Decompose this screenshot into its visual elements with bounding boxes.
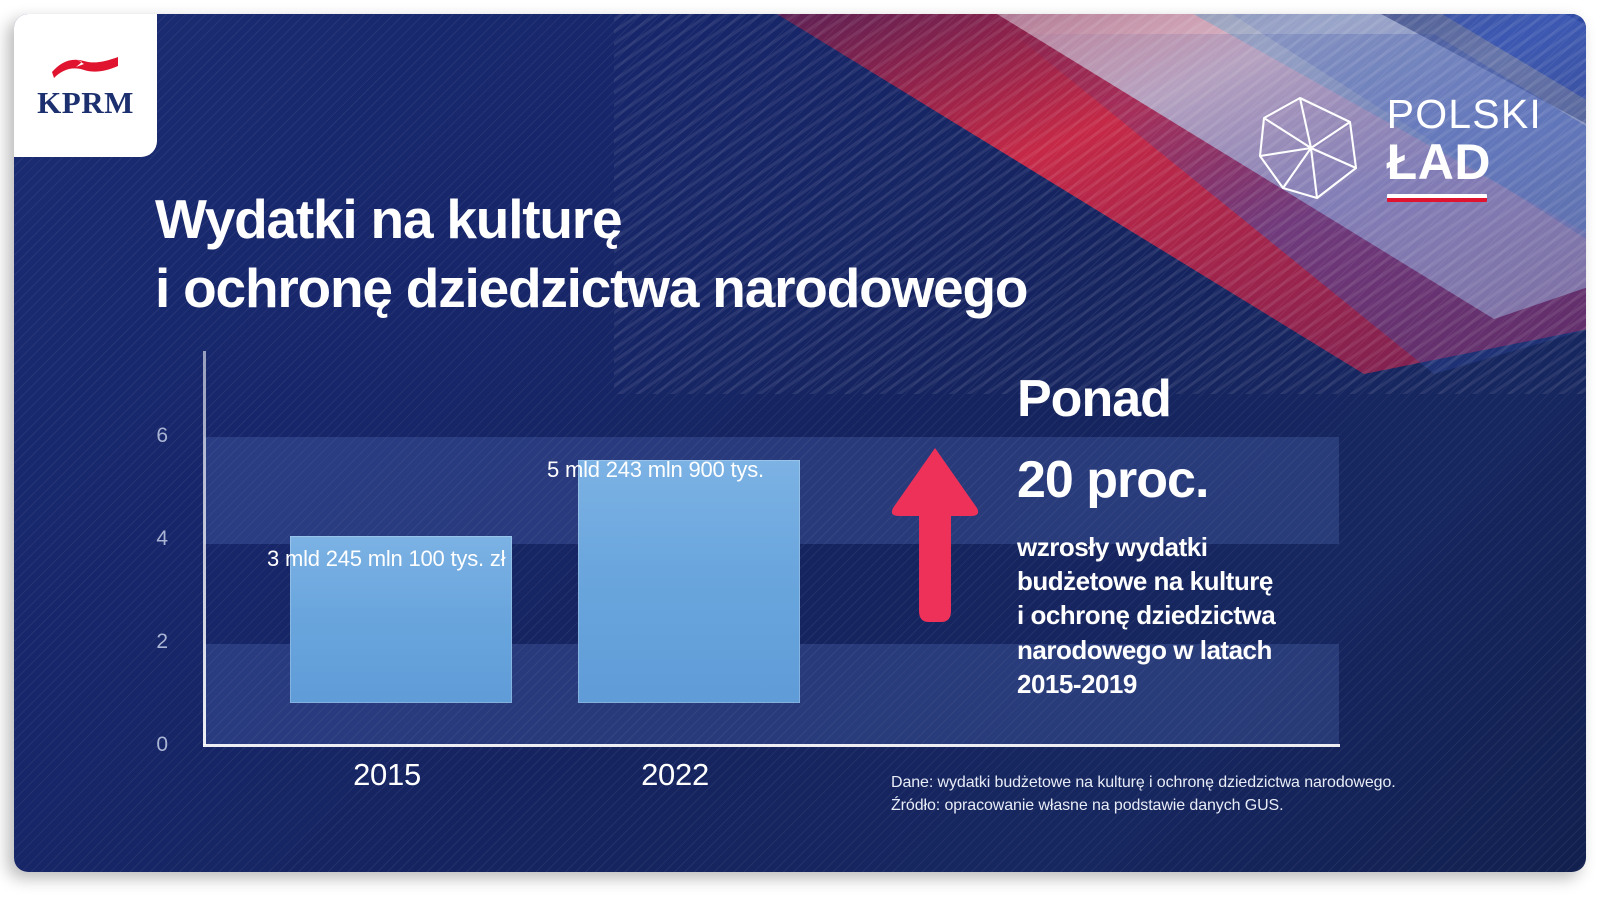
arrow-up-icon	[891, 446, 979, 624]
stat-description-line-4: narodowego w latach	[1017, 633, 1397, 667]
bar-2022	[578, 460, 800, 703]
source-note-line-2: Źródło: opracowanie własne na podstawie …	[891, 794, 1396, 817]
y-axis-tick-2: 2	[128, 630, 168, 654]
polski-lad-wordmark: POLSKI ŁAD	[1387, 94, 1542, 202]
x-axis-tick-2015: 2015	[353, 757, 421, 793]
polski-lad-logo: POLSKI ŁAD	[1255, 92, 1542, 204]
page-title-line-2: i ochronę dziedzictwa narodowego	[155, 254, 1027, 323]
hexagon-wireframe-icon	[1255, 92, 1367, 204]
bar-value-label-2022: 5 mld 243 mln 900 tys.	[547, 457, 764, 483]
source-note: Dane: wydatki budżetowe na kulturę i och…	[891, 771, 1396, 817]
kprm-wordmark: KPRM	[37, 87, 134, 118]
x-axis-tick-2022: 2022	[641, 757, 709, 793]
bar-value-label-2015: 3 mld 245 mln 100 tys. zł	[267, 546, 505, 572]
stat-description-line-1: wzrosły wydatki	[1017, 530, 1397, 564]
stat-description-line-3: i ochronę dziedzictwa	[1017, 598, 1397, 632]
y-axis-tick-0: 0	[128, 733, 168, 757]
polski-lad-top-word: POLSKI	[1387, 94, 1542, 135]
source-note-line-1: Dane: wydatki budżetowe na kulturę i och…	[891, 771, 1396, 794]
infographic-root: KPRM POLSKI ŁAD Wydatki na kulturę i och…	[0, 0, 1600, 900]
kprm-logo: KPRM	[14, 14, 157, 157]
stat-description: wzrosły wydatki budżetowe na kulturę i o…	[1017, 530, 1397, 702]
polski-lad-underline	[1387, 194, 1487, 202]
polski-lad-bottom-word: ŁAD	[1387, 137, 1542, 187]
infographic-card: KPRM POLSKI ŁAD Wydatki na kulturę i och…	[14, 14, 1586, 872]
stat-description-line-5: 2015-2019	[1017, 667, 1397, 701]
stat-panel: Ponad 20 proc. wzrosły wydatki budżetowe…	[1017, 369, 1397, 701]
polish-flag-emblem-icon	[50, 53, 122, 83]
stat-description-line-2: budżetowe na kulturę	[1017, 564, 1397, 598]
stat-headline-line-2: 20 proc.	[1017, 450, 1397, 511]
y-axis-tick-4: 4	[128, 527, 168, 551]
x-axis-line	[203, 744, 1340, 747]
y-axis-line	[203, 351, 206, 745]
page-title: Wydatki na kulturę i ochronę dziedzictwa…	[155, 185, 1027, 324]
page-title-line-1: Wydatki na kulturę	[155, 185, 1027, 254]
y-axis-tick-6: 6	[128, 424, 168, 448]
stat-headline-line-1: Ponad	[1017, 369, 1397, 430]
